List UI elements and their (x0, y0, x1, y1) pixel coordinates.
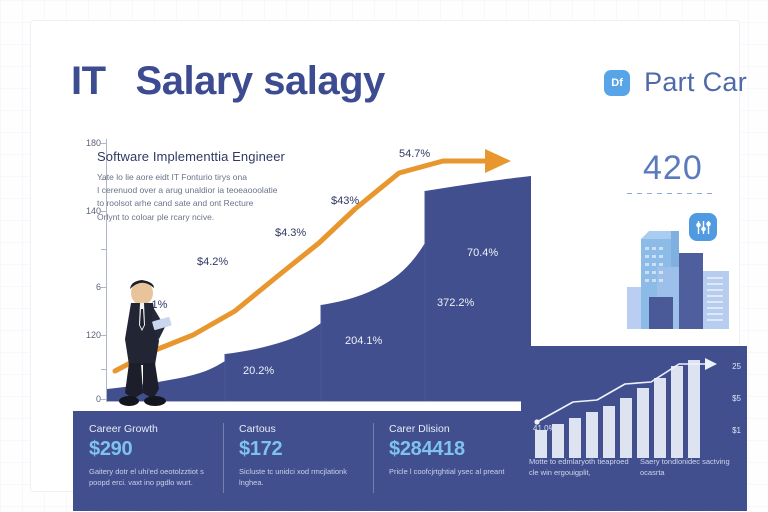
bar-axis-label: $1 (732, 426, 741, 435)
line-arrow-head (485, 149, 511, 173)
person-leg-back (125, 363, 143, 399)
right-illustration-panel: 420 (619, 141, 768, 341)
stat-value: $172 (239, 438, 359, 461)
brand-badge-glyph: Df (611, 77, 623, 89)
page-title-part2: Salary salagy (136, 59, 385, 103)
annotation-salary: 20.2% (243, 365, 274, 377)
bar (637, 388, 649, 458)
description-body: Yate lo lie aore eidt IT Fonturio tirys … (97, 171, 327, 224)
description-line: to roolsot arhe cand sate and ont Rectur… (97, 197, 327, 210)
person-shoe (144, 396, 166, 406)
bar (654, 378, 666, 458)
person-leg-front (143, 363, 159, 399)
big-number: 420 (643, 149, 703, 188)
bar-callout-label: 41.0% (533, 424, 556, 433)
annotation-growth: $43% (331, 195, 359, 207)
annotation-growth: $4.2% (197, 256, 228, 268)
bar (569, 418, 581, 458)
description-line: I cerenuod over a arug unaldior ia teoea… (97, 184, 327, 197)
brand-label: Part Car (644, 67, 747, 98)
brand-badge-icon: Df (604, 70, 630, 96)
y-tick-label: 180 (86, 138, 101, 148)
stat-list: Career Growth $290 Gaitery dotr el uhi'e… (73, 411, 523, 511)
bar (671, 366, 683, 458)
infographic-card: ITSalary salagy Df Part Car 180 140 6 12… (30, 20, 740, 492)
stat-card[interactable]: Career Growth $290 Gaitery dotr el uhi'e… (73, 411, 223, 511)
bar-axis-label: 25 (732, 362, 741, 371)
annotation-salary: 204.1% (345, 335, 382, 347)
stat-value: $284418 (389, 438, 509, 461)
bar (688, 360, 700, 458)
businessman-illustration (109, 279, 175, 407)
stat-value: $290 (89, 438, 209, 461)
stat-card[interactable]: Carer Dlision $284418 Pricle l coofcjrtg… (373, 411, 523, 511)
description-block: Software Implementtia Engineer Yate lo l… (97, 149, 327, 224)
bar-chart-panel: 41.0% 25 $5 $1 Motte to edmlaryoth tieap… (521, 346, 747, 511)
page-title: ITSalary salagy (71, 59, 385, 104)
annotation-salary: 372.2% (437, 297, 474, 309)
description-line: Orlynt to coloar ple rcary ncive. (97, 211, 327, 224)
page-title-part1: IT (71, 59, 106, 103)
stat-description: Sicluste tc unidci xod rmcjlationk lnghe… (239, 466, 359, 489)
bar (620, 398, 632, 458)
annotation-growth: $4.3% (275, 227, 306, 239)
description-line: Yate lo lie aore eidt IT Fonturio tirys … (97, 171, 327, 184)
bar-panel-caption: Saery tondlonidec sactving ocasrta (640, 456, 741, 479)
trend-arrow-head (705, 358, 717, 370)
stat-label: Career Growth (89, 423, 209, 435)
brand[interactable]: Df Part Car (604, 67, 747, 98)
stat-description: Pricle l coofcjrtghtial ysec al preant (389, 466, 509, 477)
bar-panel-captions: Motte to edmlaryoth tieaproed cle win er… (529, 456, 741, 479)
building-dark (679, 253, 703, 329)
header: ITSalary salagy Df Part Car (71, 51, 761, 131)
bar (586, 412, 598, 458)
stat-label: Carer Dlision (389, 423, 509, 435)
bar (603, 406, 615, 458)
annotation-growth: 54.7% (399, 148, 430, 160)
bar-panel-caption: Motte to edmlaryoth tieaproed cle win er… (529, 456, 630, 479)
stat-description: Gaitery dotr el uhi'ed oeotolzztiot s po… (89, 466, 209, 489)
annotation-salary: 70.4% (467, 247, 498, 259)
y-tick-label: 120 (86, 330, 101, 340)
city-skyline-illustration (623, 215, 743, 331)
bar-axis-label: $5 (732, 394, 741, 403)
stat-label: Cartous (239, 423, 359, 435)
person-shoe (119, 396, 139, 406)
page-background: ITSalary salagy Df Part Car 180 140 6 12… (0, 0, 768, 512)
stat-card[interactable]: Cartous $172 Sicluste tc unidci xod rmcj… (223, 411, 373, 511)
building-dark (649, 297, 673, 329)
description-heading: Software Implementtia Engineer (97, 149, 327, 164)
dashed-connector (627, 193, 713, 194)
sliders-icon[interactable] (689, 213, 717, 241)
bar (535, 430, 547, 458)
